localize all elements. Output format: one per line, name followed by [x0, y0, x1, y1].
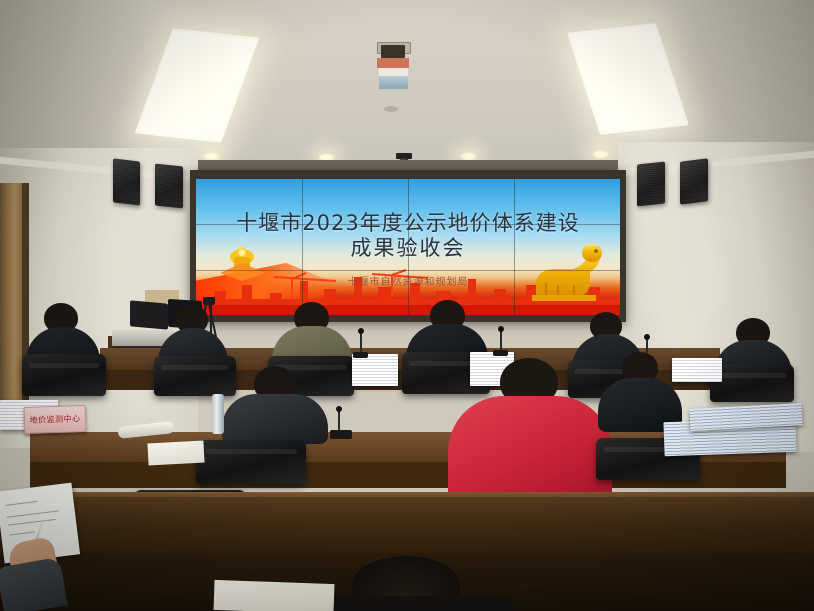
wall-speaker-right-inner	[637, 162, 665, 207]
ceiling-panel-light-left	[135, 28, 260, 142]
desk-microphone-1-stem	[360, 332, 362, 354]
document-stack-right-back	[672, 358, 722, 382]
chair-mid-2	[196, 440, 306, 484]
video-wall-display[interactable]: 十堰市2023年度公示地价体系建设 成果验收会 十堰市自然资源和规划局	[196, 179, 620, 315]
chair-back-6	[710, 364, 794, 402]
desk-microphone-4-head	[336, 406, 342, 412]
tile-seam-h1	[196, 224, 620, 225]
tile-seam-h2	[196, 270, 620, 271]
tile-seam-v2	[408, 179, 409, 315]
placard-text: 地价监测中心	[29, 413, 80, 426]
front-conference-table	[0, 497, 814, 557]
desk-microphone-1-head	[358, 328, 364, 334]
tile-seam-v1	[302, 179, 303, 315]
ceiling-panel-light-right	[567, 23, 689, 135]
desk-microphone-1-base	[353, 352, 368, 358]
conference-room-photo: 十堰市2023年度公示地价体系建设 成果验收会 十堰市自然资源和规划局	[0, 0, 814, 611]
desk-microphone-2-stem	[500, 330, 502, 352]
loose-paper	[147, 441, 204, 466]
desk-microphone-4-base	[330, 430, 352, 439]
name-placard: 地价监测中心	[24, 405, 87, 434]
smoke-detector	[384, 106, 398, 112]
projector-banner-red	[377, 58, 409, 68]
tile-seam-v3	[514, 179, 515, 315]
wall-speaker-left-outer	[113, 158, 140, 205]
desk-microphone-4-stem	[338, 410, 340, 432]
desk-microphone-2-head	[498, 326, 504, 332]
chair-back-1	[22, 354, 106, 396]
desk-microphone-3-head	[644, 334, 650, 340]
water-bottle	[212, 394, 224, 434]
projector-lens	[381, 45, 405, 58]
sleeve	[0, 557, 68, 611]
projector-banner-white	[379, 68, 408, 76]
document-stack-center-left	[352, 354, 398, 386]
downlight-4	[592, 150, 609, 159]
desk-microphone-2-base	[493, 350, 508, 356]
chair-back-2	[154, 356, 236, 396]
wall-speaker-right-outer	[680, 158, 708, 204]
wall-speaker-left-inner	[155, 164, 183, 209]
foreground-paper	[214, 580, 335, 611]
av-monitor-1	[130, 300, 168, 329]
projector-banner-blue	[379, 76, 408, 89]
